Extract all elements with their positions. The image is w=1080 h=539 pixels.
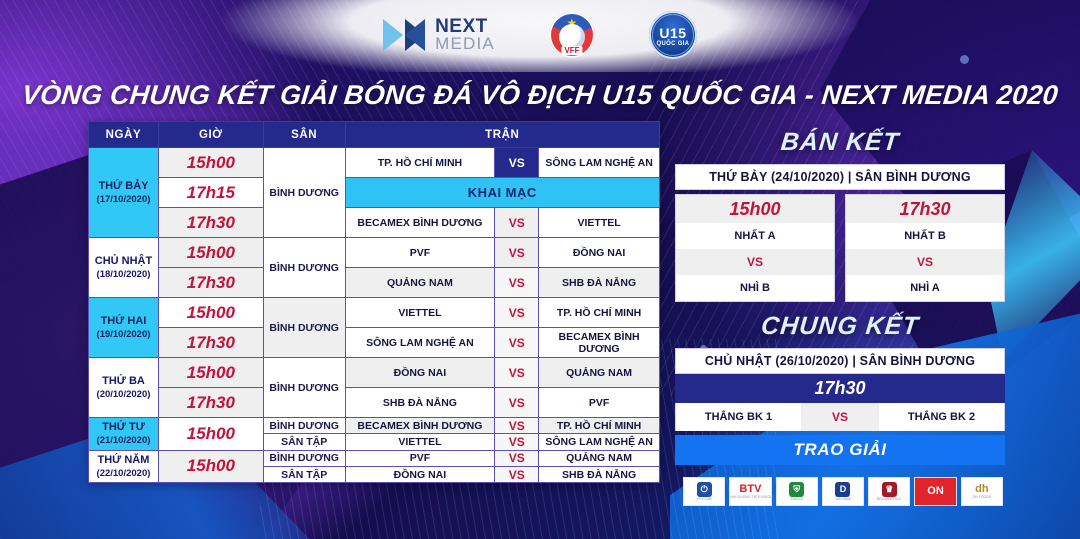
sponsor-caption: SHIELD xyxy=(790,498,803,501)
home-team: TP. HỒ CHÍ MINH xyxy=(345,148,495,178)
day-label: THỨ NĂM xyxy=(98,454,150,466)
table-row: 17h30 BECAMEX BÌNH DƯƠNG VS VIETTEL xyxy=(89,208,660,238)
day-cell: THỨ NĂM (22/10/2020) xyxy=(89,450,159,483)
column-header-san: SÂN xyxy=(263,122,345,148)
vs-label: VS xyxy=(495,388,539,418)
day-date: (21/10/2020) xyxy=(91,435,156,448)
match-time: 17h30 xyxy=(158,328,263,358)
match-time: 15h00 xyxy=(158,148,263,178)
next-media-logo: NEXT MEDIA xyxy=(383,17,495,53)
venue-cell: BÌNH DƯƠNG xyxy=(263,418,345,434)
home-team: BECAMEX BÌNH DƯƠNG xyxy=(345,208,495,238)
sponsor-caption: VTV CAB xyxy=(697,498,712,501)
semifinal-home-team: NHẤT B xyxy=(846,223,1004,249)
vs-label: VS xyxy=(495,298,539,328)
vs-label: VS xyxy=(495,268,539,298)
final-title: CHUNG KẾT xyxy=(673,312,1006,341)
table-row: THỨ HAI (19/10/2020) 15h00 BÌNH DƯƠNG VI… xyxy=(89,298,660,328)
vs-label: VS xyxy=(495,434,539,450)
next-media-line2: MEDIA xyxy=(435,36,495,52)
semifinal-match-1: 15h00 NHẤT A VS NHÌ B xyxy=(675,194,835,302)
home-team: SHB ĐÀ NẴNG xyxy=(345,388,495,418)
away-team: TP. HỒ CHÍ MINH xyxy=(539,298,660,328)
vs-label: VS xyxy=(495,450,539,466)
sponsor-5: ♛ BECAMEX IDC xyxy=(868,477,910,506)
final-away-team: THẮNG BK 2 xyxy=(879,403,1004,431)
day-cell: THỨ BA (20/10/2020) xyxy=(89,358,159,418)
away-team: SHB ĐÀ NẴNG xyxy=(539,466,660,482)
vs-label: VS xyxy=(801,403,879,431)
final-home-team: THẮNG BK 1 xyxy=(676,403,801,431)
day-date: (22/10/2020) xyxy=(91,468,156,481)
venue-cell: BÌNH DƯƠNG xyxy=(263,148,345,238)
home-team: SÔNG LAM NGHỆ AN xyxy=(345,328,495,358)
logo-ring xyxy=(652,14,694,56)
venue-cell: SÂN TẬP xyxy=(263,466,345,482)
match-time: 15h00 xyxy=(158,418,263,451)
power-icon: ⏻ xyxy=(697,482,712,497)
day-date: (17/10/2020) xyxy=(91,194,156,207)
sponsor-on: ON xyxy=(914,477,956,506)
day-cell: CHỦ NHẬT (18/10/2020) xyxy=(89,238,159,298)
match-time: 17h30 xyxy=(158,208,263,238)
emblem-icon: ♛ xyxy=(882,482,897,497)
match-time: 15h00 xyxy=(158,238,263,268)
venue-cell: BÌNH DƯƠNG xyxy=(263,238,345,298)
sponsor-strip: ⏻ VTV CAB BTV BINH DUONG TELEVISION ⛨ SH… xyxy=(683,477,1003,506)
venue-cell: BÌNH DƯƠNG xyxy=(263,298,345,358)
sponsor-7: dh DH FOODS xyxy=(961,477,1003,506)
vff-logo: ★ VFF xyxy=(549,12,595,58)
day-label: THỨ HAI xyxy=(101,315,147,327)
table-row: THỨ NĂM (22/10/2020) 15h00 BÌNH DƯƠNG PV… xyxy=(89,450,660,466)
semifinal-header: THỨ BẢY (24/10/2020) | SÂN BÌNH DƯƠNG xyxy=(675,164,1005,190)
table-row: 17h15 KHAI MẠC xyxy=(89,178,660,208)
away-team: PVF xyxy=(539,388,660,418)
day-date: (18/10/2020) xyxy=(91,269,156,282)
semifinal-panel: BÁN KẾT THỨ BẢY (24/10/2020) | SÂN BÌNH … xyxy=(675,128,1005,302)
home-team: ĐỒNG NAI xyxy=(345,466,495,482)
day-date: (20/10/2020) xyxy=(91,389,156,402)
table-row: 17h30 QUẢNG NAM VS SHB ĐÀ NẴNG xyxy=(89,268,660,298)
vs-label: VS xyxy=(495,358,539,388)
day-label: CHỦ NHẬT xyxy=(95,255,152,267)
day-cell: THỨ HAI (19/10/2020) xyxy=(89,298,159,358)
table-row: THỨ BA (20/10/2020) 15h00 BÌNH DƯƠNG ĐỒN… xyxy=(89,358,660,388)
table-row: 17h30 SHB ĐÀ NẴNG VS PVF xyxy=(89,388,660,418)
sponsor-1: ⏻ VTV CAB xyxy=(683,477,725,506)
home-team: VIETTEL xyxy=(345,434,495,450)
sponsor-3: ⛨ SHIELD xyxy=(776,477,818,506)
crest-icon: D xyxy=(835,482,850,497)
away-team: QUẢNG NAM xyxy=(539,358,660,388)
semifinal-match-2: 17h30 NHẤT B VS NHÌ A xyxy=(845,194,1005,302)
table-row: 17h30 SÔNG LAM NGHỆ AN VS BECAMEX BÌNH D… xyxy=(89,328,660,358)
home-team: QUẢNG NAM xyxy=(345,268,495,298)
vff-logo-text: VFF xyxy=(561,46,582,55)
venue-cell: BÌNH DƯƠNG xyxy=(263,450,345,466)
day-label: THỨ TƯ xyxy=(102,421,145,433)
semifinal-matches: 15h00 NHẤT A VS NHÌ B 17h30 NHẤT B VS NH… xyxy=(675,194,1005,302)
away-team: QUẢNG NAM xyxy=(539,450,660,466)
sponsor-caption: DH FOODS xyxy=(972,496,991,499)
home-team: BECAMEX BÌNH DƯƠNG xyxy=(345,418,495,434)
next-media-mark-icon xyxy=(383,17,427,53)
day-label: THỨ BA xyxy=(102,375,145,387)
sponsor-btv: BTV BINH DUONG TELEVISION xyxy=(729,477,771,506)
day-date: (19/10/2020) xyxy=(91,329,156,342)
table-row: THỨ BẢY (17/10/2020) 15h00 BÌNH DƯƠNG TP… xyxy=(89,148,660,178)
dh-wordmark: dh xyxy=(975,484,988,495)
away-team: BECAMEX BÌNH DƯƠNG xyxy=(539,328,660,358)
semifinal-title: BÁN KẾT xyxy=(673,128,1006,157)
final-header: CHỦ NHẬT (26/10/2020) | SÂN BÌNH DƯƠNG xyxy=(675,348,1005,374)
match-time: 17h30 xyxy=(158,388,263,418)
vs-label: VS xyxy=(495,466,539,482)
venue-cell: SÂN TẬP xyxy=(263,434,345,450)
sponsor-caption: DAI NAM xyxy=(836,498,851,501)
semifinal-away-team: NHÌ A xyxy=(846,275,1004,301)
match-time: 15h00 xyxy=(158,450,263,483)
btv-wordmark: BTV xyxy=(739,484,761,495)
vs-label: VS xyxy=(495,418,539,434)
away-team: VIETTEL xyxy=(539,208,660,238)
day-cell: THỨ BẢY (17/10/2020) xyxy=(89,148,159,238)
column-header-gio: GIỜ xyxy=(158,122,263,148)
vs-label: VS xyxy=(495,208,539,238)
vs-label: VS xyxy=(495,328,539,358)
match-time: 17h15 xyxy=(158,178,263,208)
away-team: SÔNG LAM NGHỆ AN xyxy=(539,434,660,450)
vs-label: VS xyxy=(676,249,834,275)
semifinal-home-team: NHẤT A xyxy=(676,223,834,249)
final-match: THẮNG BK 1 VS THẮNG BK 2 xyxy=(675,403,1005,431)
page-title: VÒNG CHUNG KẾT GIẢI BÓNG ĐÁ VÔ ĐỊCH U15 … xyxy=(0,80,1080,111)
final-time: 17h30 xyxy=(675,374,1005,403)
column-header-ngay: NGÀY xyxy=(89,122,159,148)
sponsor-caption: BINH DUONG TELEVISION xyxy=(729,496,771,499)
away-team: ĐỒNG NAI xyxy=(539,238,660,268)
day-label: THỨ BẢY xyxy=(98,180,148,192)
award-ceremony-label: TRAO GIẢI xyxy=(675,435,1005,465)
away-team: SÔNG LAM NGHỆ AN xyxy=(539,148,660,178)
table-row: THỨ TƯ (21/10/2020) 15h00 BÌNH DƯƠNG BEC… xyxy=(89,418,660,434)
match-time: 15h00 xyxy=(158,298,263,328)
semifinal-time: 15h00 xyxy=(676,195,834,223)
match-time: 17h30 xyxy=(158,268,263,298)
home-team: ĐỒNG NAI xyxy=(345,358,495,388)
column-header-tran: TRẬN xyxy=(345,122,659,148)
u15-quoc-gia-logo: U15 QUỐC GIA xyxy=(649,11,697,59)
semifinal-time: 17h30 xyxy=(846,195,1004,223)
home-team: VIETTEL xyxy=(345,298,495,328)
schedule-header-row: NGÀY GIỜ SÂN TRẬN xyxy=(89,122,660,148)
sponsor-caption: BECAMEX IDC xyxy=(877,498,901,501)
home-team: PVF xyxy=(345,238,495,268)
on-wordmark: ON xyxy=(927,486,944,497)
semifinal-away-team: NHÌ B xyxy=(676,275,834,301)
opening-ceremony-label: KHAI MẠC xyxy=(345,178,659,208)
away-team: SHB ĐÀ NẴNG xyxy=(539,268,660,298)
table-row: CHỦ NHẬT (18/10/2020) 15h00 BÌNH DƯƠNG P… xyxy=(89,238,660,268)
logo-bar: NEXT MEDIA ★ VFF U15 QUỐC GIA xyxy=(0,0,1080,70)
home-team: PVF xyxy=(345,450,495,466)
venue-cell: BÌNH DƯƠNG xyxy=(263,358,345,418)
vs-label: VS xyxy=(846,249,1004,275)
sponsor-4: D DAI NAM xyxy=(822,477,864,506)
schedule-table: NGÀY GIỜ SÂN TRẬN THỨ BẢY (17/10/2020) 1… xyxy=(88,121,660,483)
match-time: 15h00 xyxy=(158,358,263,388)
tournament-schedule-graphic: NEXT MEDIA ★ VFF U15 QUỐC GIA VÒNG CHUNG… xyxy=(0,0,1080,539)
away-team: TP. HỒ CHÍ MINH xyxy=(539,418,660,434)
vs-label: VS xyxy=(495,148,539,178)
day-cell: THỨ TƯ (21/10/2020) xyxy=(89,418,159,451)
vs-label: VS xyxy=(495,238,539,268)
shield-icon: ⛨ xyxy=(789,482,804,497)
final-panel: CHUNG KẾT CHỦ NHẬT (26/10/2020) | SÂN BÌ… xyxy=(675,312,1005,465)
